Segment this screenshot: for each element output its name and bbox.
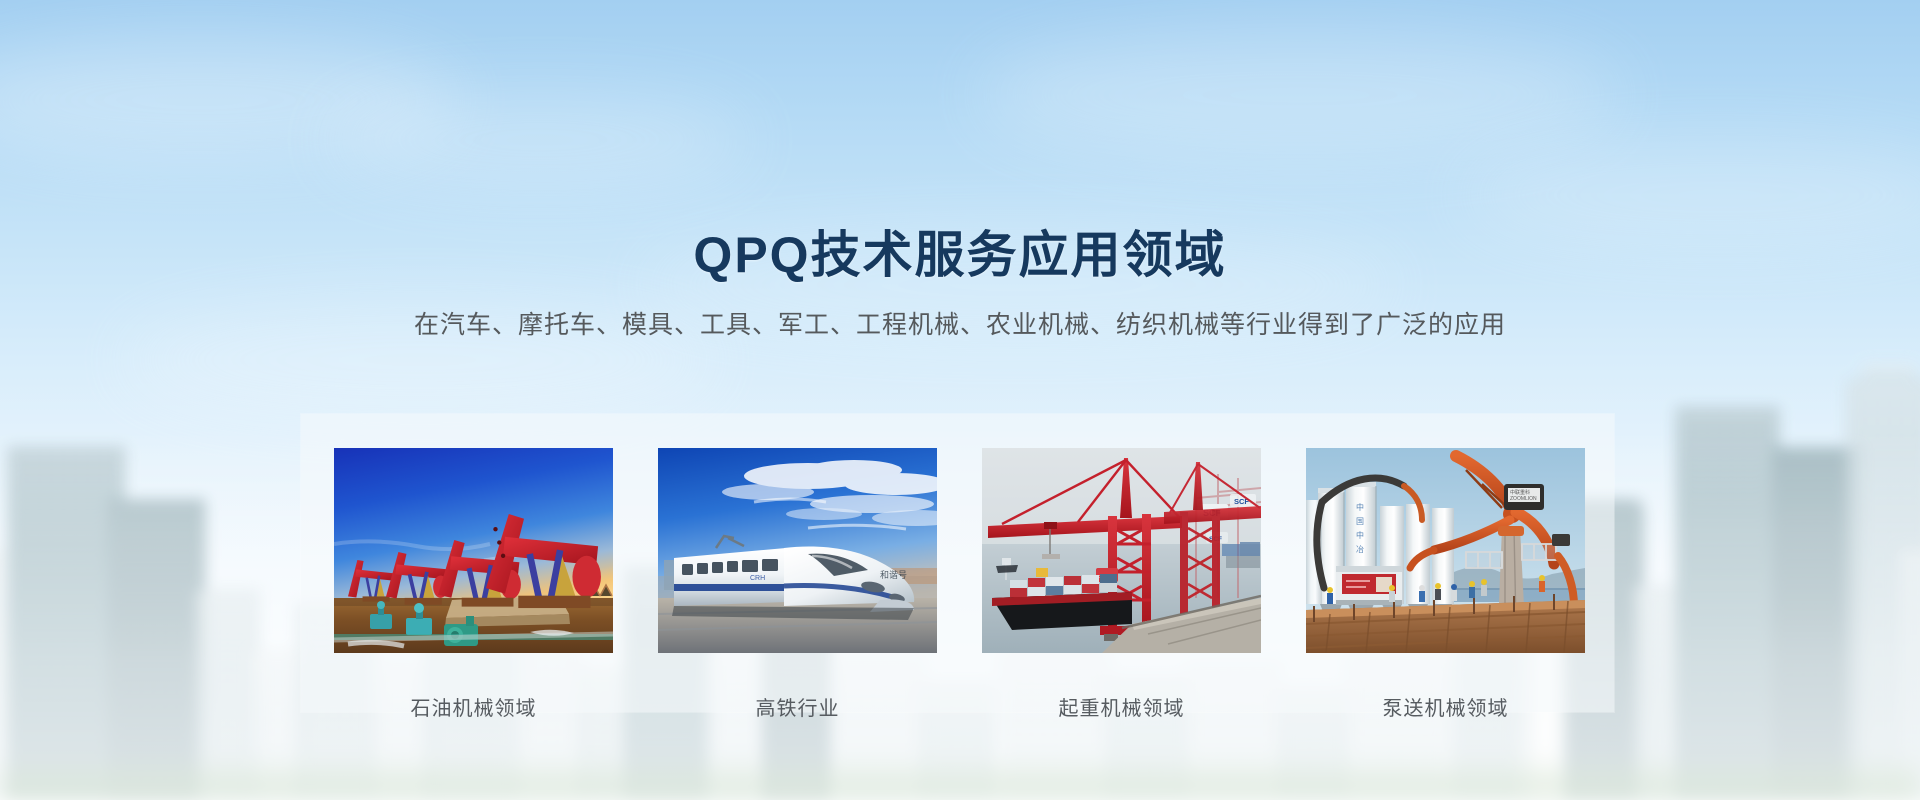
- port-container-gantry-cranes-photo[interactable]: SCF SCF SCF: [982, 448, 1261, 653]
- card-high-speed-rail[interactable]: CRH 和谐号 高铁行业: [658, 448, 937, 653]
- card-oil-machinery[interactable]: 石油机械领域: [334, 448, 613, 653]
- application-cards-panel: 石油机械领域: [301, 414, 1614, 712]
- svg-text:中: 中: [1356, 530, 1364, 540]
- foliage-strip: [0, 758, 1920, 800]
- hero-banner: QPQ技术服务应用领域 在汽车、摩托车、模具、工具、军工、工程机械、农业机械、纺…: [0, 0, 1920, 800]
- oil-pumpjacks-sunset-photo[interactable]: [334, 448, 613, 653]
- card-pumping-machinery[interactable]: 中国 中冶: [1306, 448, 1585, 653]
- page-title: QPQ技术服务应用领域: [0, 228, 1920, 283]
- high-speed-train-photo[interactable]: CRH 和谐号: [658, 448, 937, 653]
- svg-text:国: 国: [1356, 517, 1364, 526]
- svg-text:ZOOMLION: ZOOMLION: [1510, 496, 1537, 502]
- svg-text:中联重科: 中联重科: [1510, 489, 1530, 496]
- svg-text:中: 中: [1356, 502, 1364, 512]
- heading-block: QPQ技术服务应用领域 在汽车、摩托车、模具、工具、军工、工程机械、农业机械、纺…: [0, 0, 1920, 341]
- card-label: 泵送机械领域: [1306, 692, 1585, 721]
- card-lifting-machinery[interactable]: SCF SCF SCF: [982, 448, 1261, 653]
- card-label: 石油机械领域: [334, 692, 613, 721]
- svg-text:CRH: CRH: [750, 575, 765, 582]
- card-label: 起重机械领域: [982, 692, 1261, 721]
- svg-text:冶: 冶: [1356, 544, 1364, 554]
- page-subtitle: 在汽车、摩托车、模具、工具、军工、工程机械、农业机械、纺织机械等行业得到了广泛的…: [0, 305, 1920, 341]
- concrete-pump-machinery-photo[interactable]: 中国 中冶: [1306, 448, 1585, 653]
- svg-text:和谐号: 和谐号: [880, 570, 907, 580]
- card-label: 高铁行业: [658, 692, 937, 721]
- application-cards-row: 石油机械领域: [334, 448, 1585, 653]
